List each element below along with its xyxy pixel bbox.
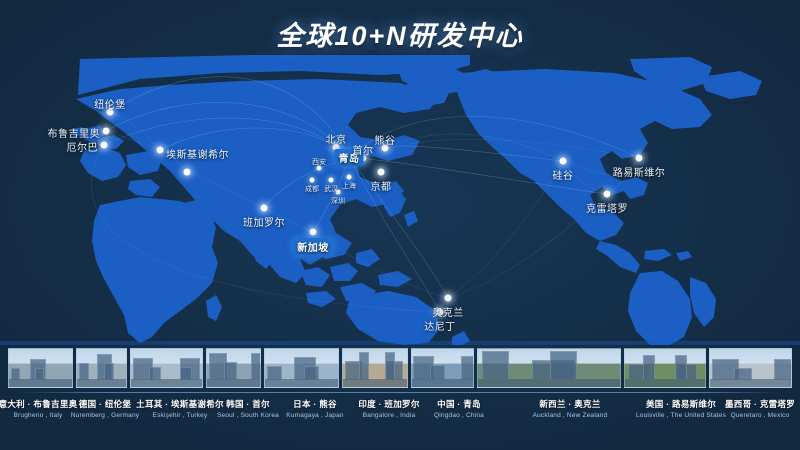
map-label-wuhan: 武汉	[324, 184, 338, 194]
map-marker-chengdu[interactable]	[310, 178, 315, 183]
photo-ground	[478, 379, 621, 387]
photo-building-shape	[104, 363, 114, 380]
caption-chinese: 日本 · 熊谷	[286, 398, 343, 410]
map-label-singapore: 新加坡	[293, 238, 333, 255]
photo-ground	[710, 379, 791, 387]
map-marker-brugherio[interactable]	[103, 128, 110, 135]
caption-louisville: 美国 · 路易斯维尔Louisville , The United States	[636, 398, 726, 419]
photo-building-shape	[774, 359, 792, 380]
map-label-dunedin: 达尼丁	[424, 318, 456, 333]
photo-ground	[207, 379, 260, 387]
photo-building-shape	[385, 352, 395, 380]
map-label-seoul: 首尔	[353, 142, 374, 157]
caption-english: Bangalore , India	[358, 412, 419, 419]
caption-row: 意大利 · 布鲁吉里奥Brugherio , Italy德国 · 纽伦堡Nure…	[0, 398, 800, 432]
photo-kumagaya	[264, 348, 339, 388]
photo-ground	[9, 379, 72, 387]
map-label-queretaro: 克雷塔罗	[586, 200, 628, 215]
map-label-chengdu: 成都	[305, 184, 319, 194]
photo-strip	[8, 348, 792, 388]
map-marker-silicon-valley[interactable]	[560, 158, 567, 165]
photo-building-shape	[149, 367, 161, 380]
photo-ground	[131, 379, 202, 387]
map-label-eskisehir: 埃斯基谢希尔	[166, 146, 229, 161]
caption-english: Nuremberg , Germany	[71, 412, 139, 419]
caption-english: Queretaro , Mexico	[725, 412, 795, 419]
caption-queretaro: 墨西哥 · 克雷塔罗Queretaro , Mexico	[725, 398, 795, 419]
photo-ground	[77, 379, 126, 387]
photo-ground	[265, 379, 338, 387]
caption-chinese: 意大利 · 布鲁吉里奥	[0, 398, 77, 410]
caption-english: Eskişehir , Turkey	[136, 412, 224, 419]
caption-brugherio: 意大利 · 布鲁吉里奥Brugherio , Italy	[0, 398, 77, 419]
photo-building-shape	[643, 355, 655, 380]
map-label-louisville: 路易斯维尔	[613, 164, 666, 179]
caption-eskisehir: 土耳其 · 埃斯基谢希尔Eskişehir , Turkey	[136, 398, 224, 419]
photo-building-shape	[550, 351, 577, 380]
photo-building-shape	[251, 353, 261, 380]
caption-seoul: 韩国 · 首尔Seoul , South Korea	[217, 398, 279, 419]
caption-qingdao: 中国 · 青岛Qingdao , China	[434, 398, 484, 419]
photo-building-shape	[11, 368, 20, 380]
map-label-beijing: 北京	[326, 131, 347, 146]
caption-bangalore: 印度 · 班加罗尔Bangalore , India	[358, 398, 419, 419]
map-marker-eskisehir[interactable]	[157, 147, 164, 154]
map-label-bangalore: 班加罗尔	[243, 214, 285, 229]
caption-chinese: 土耳其 · 埃斯基谢希尔	[136, 398, 224, 410]
map-label-brugherio: 布鲁吉里奥	[48, 125, 101, 140]
map-marker-queretaro[interactable]	[604, 191, 611, 198]
caption-english: Louisville , The United States	[636, 412, 726, 419]
photo-building-shape	[304, 366, 319, 380]
map-label-shenzhen: 深圳	[331, 196, 345, 206]
photo-auckland	[477, 348, 622, 388]
map-marker-gulf-node[interactable]	[184, 169, 191, 176]
map-marker-louisville[interactable]	[636, 155, 643, 162]
map-label-shanghai: 上海	[342, 181, 356, 191]
map-label-xian: 西安	[312, 157, 326, 167]
map-label-kyoto: 京都	[371, 178, 392, 193]
photo-eskisehir	[130, 348, 203, 388]
caption-english: Qingdao , China	[434, 412, 484, 419]
photo-building-shape	[267, 366, 282, 380]
caption-english: Seoul , South Korea	[217, 412, 279, 419]
page-title: 全球10+N研发中心	[0, 14, 800, 53]
map-marker-bangalore[interactable]	[261, 205, 268, 212]
caption-chinese: 德国 · 纽伦堡	[71, 398, 139, 410]
photo-brugherio	[8, 348, 73, 388]
caption-english: Brugherio , Italy	[0, 412, 77, 419]
map-label-silicon-valley: 硅谷	[553, 167, 574, 182]
photo-queretaro	[709, 348, 792, 388]
photo-building-shape	[35, 368, 44, 380]
caption-chinese: 印度 · 班加罗尔	[358, 398, 419, 410]
map-marker-layer: 纽伦堡布鲁吉里奥厄尔巴埃斯基谢希尔班加罗尔新加坡北京青岛首尔熊谷京都西安成都武汉…	[0, 55, 800, 345]
photo-seoul	[206, 348, 261, 388]
photo-building-shape	[180, 367, 192, 380]
caption-chinese: 墨西哥 · 克雷塔罗	[725, 398, 795, 410]
strip-divider	[18, 392, 782, 393]
photo-building-shape	[734, 368, 752, 380]
map-label-kumagaya: 熊谷	[375, 132, 396, 147]
photo-building-shape	[675, 355, 687, 380]
caption-english: Kumagaya , Japan	[286, 412, 343, 419]
caption-nuremberg: 德国 · 纽伦堡Nuremberg , Germany	[71, 398, 139, 419]
photo-qingdao	[411, 348, 474, 388]
map-marker-singapore[interactable]	[310, 229, 317, 236]
caption-chinese: 新西兰 · 奥克兰	[533, 398, 608, 410]
map-label-elba: 厄尔巴	[67, 139, 99, 154]
map-label-nuremberg: 纽伦堡	[94, 96, 126, 111]
photo-building-shape	[461, 356, 474, 380]
caption-kumagaya: 日本 · 熊谷Kumagaya , Japan	[286, 398, 343, 419]
map-marker-elba[interactable]	[101, 142, 108, 149]
photo-building-shape	[359, 352, 369, 380]
caption-chinese: 美国 · 路易斯维尔	[636, 398, 726, 410]
photo-building-shape	[224, 362, 237, 380]
map-marker-kyoto[interactable]	[378, 169, 385, 176]
map-marker-shanghai[interactable]	[347, 175, 352, 180]
map-label-auckland: 奥克兰	[432, 304, 464, 319]
photo-louisville	[624, 348, 705, 388]
photo-ground	[412, 379, 473, 387]
map-marker-wuhan[interactable]	[329, 178, 334, 183]
caption-auckland: 新西兰 · 奥克兰Auckland , New Zealand	[533, 398, 608, 419]
photo-building-shape	[79, 363, 89, 380]
caption-chinese: 中国 · 青岛	[434, 398, 484, 410]
caption-english: Auckland , New Zealand	[533, 412, 608, 419]
photo-ground	[343, 379, 406, 387]
photo-building-shape	[482, 351, 509, 380]
photo-bangalore	[342, 348, 407, 388]
infographic-canvas: 全球10+N研发中心	[0, 0, 800, 450]
photo-nuremberg	[76, 348, 127, 388]
photo-building-shape	[430, 365, 444, 380]
caption-chinese: 韩国 · 首尔	[217, 398, 279, 410]
map-marker-auckland[interactable]	[445, 295, 452, 302]
photo-ground	[625, 379, 704, 387]
